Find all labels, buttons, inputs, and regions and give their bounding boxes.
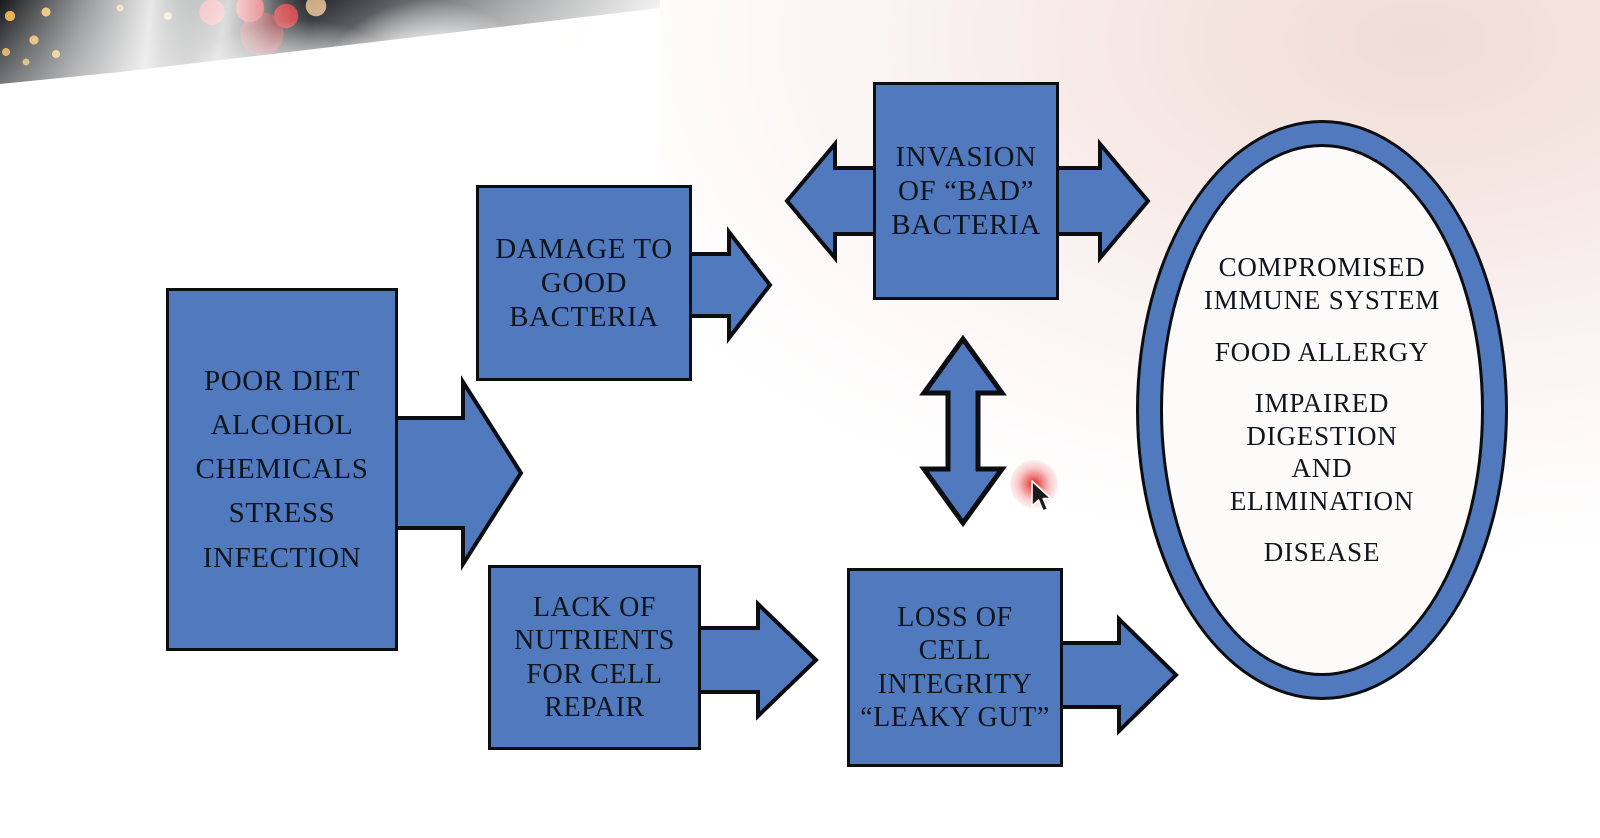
damage-line-3: BACTERIA xyxy=(495,300,673,334)
click-highlight xyxy=(1010,460,1058,508)
outcome-3-line-2: DIGESTION xyxy=(1162,420,1482,452)
nutrients-line-2: NUTRIENTS xyxy=(514,624,675,657)
node-lack-of-nutrients[interactable]: LACK OF NUTRIENTS FOR CELL REPAIR xyxy=(488,565,701,750)
cursor-arrow-icon xyxy=(1030,480,1056,514)
outcome-1-line-2: IMMUNE SYSTEM xyxy=(1162,284,1482,316)
arrow-invasion-leaky-gut-bidirectional xyxy=(920,336,1006,526)
arrow-nutrients-to-leaky-gut xyxy=(692,600,820,720)
invasion-line-1: INVASION xyxy=(891,140,1041,174)
causes-line-2: ALCOHOL xyxy=(196,408,369,442)
nutrients-line-3: FOR CELL xyxy=(514,658,675,691)
arrow-damage-to-invasion xyxy=(683,228,773,342)
causes-line-3: CHEMICALS xyxy=(196,452,369,486)
node-damage-to-good-bacteria[interactable]: DAMAGE TO GOOD BACTERIA xyxy=(476,185,692,381)
outcome-3-line-4: ELIMINATION xyxy=(1162,485,1482,517)
node-invasion-of-bad-bacteria[interactable]: INVASION OF “BAD” BACTERIA xyxy=(873,82,1059,300)
leakygut-line-3: INTEGRITY xyxy=(860,668,1050,701)
node-outcomes-oval[interactable]: COMPROMISED IMMUNE SYSTEM FOOD ALLERGY I… xyxy=(1136,120,1508,700)
outcome-3-line-1: IMPAIRED xyxy=(1162,387,1482,419)
node-loss-of-cell-integrity[interactable]: LOSS OF CELL INTEGRITY “LEAKY GUT” xyxy=(847,568,1063,767)
outcome-3-line-3: AND xyxy=(1162,452,1482,484)
outcomes-text: COMPROMISED IMMUNE SYSTEM FOOD ALLERGY I… xyxy=(1162,251,1482,568)
causes-line-4: STRESS xyxy=(196,496,369,530)
nutrients-line-1: LACK OF xyxy=(514,591,675,624)
outcome-2-line-1: FOOD ALLERGY xyxy=(1162,336,1482,368)
slide-canvas: POOR DIET ALCOHOL CHEMICALS STRESS INFEC… xyxy=(0,0,1600,838)
leakygut-line-1: LOSS OF xyxy=(860,601,1050,634)
arrow-invasion-left xyxy=(783,140,887,262)
leakygut-line-4: “LEAKY GUT” xyxy=(860,701,1050,734)
damage-line-2: GOOD xyxy=(495,266,673,300)
causes-line-1: POOR DIET xyxy=(196,364,369,398)
leakygut-line-2: CELL xyxy=(860,634,1050,667)
outcome-4-line-1: DISEASE xyxy=(1162,536,1482,568)
node-poor-diet-causes[interactable]: POOR DIET ALCOHOL CHEMICALS STRESS INFEC… xyxy=(166,288,398,651)
invasion-line-3: BACTERIA xyxy=(891,208,1041,242)
invasion-line-2: OF “BAD” xyxy=(891,174,1041,208)
nutrients-line-4: REPAIR xyxy=(514,691,675,724)
causes-line-5: INFECTION xyxy=(196,541,369,575)
arrow-causes-to-branches xyxy=(385,378,525,568)
outcome-1-line-1: COMPROMISED xyxy=(1162,251,1482,283)
damage-line-1: DAMAGE TO xyxy=(495,232,673,266)
